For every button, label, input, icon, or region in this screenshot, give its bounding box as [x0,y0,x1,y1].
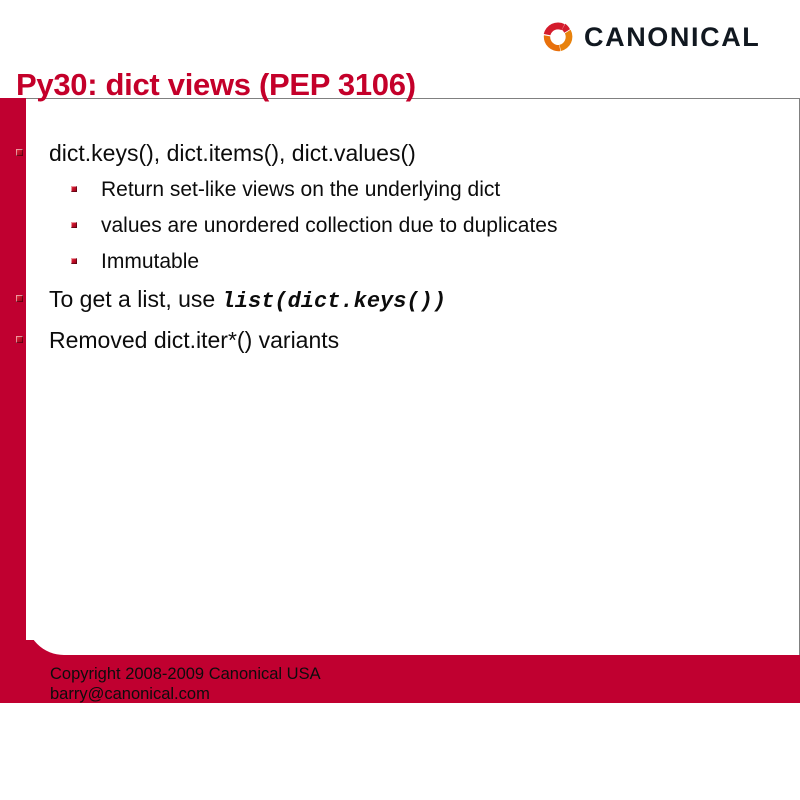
list-item: Immutable [16,247,756,277]
copyright-line: Copyright 2008-2009 Canonical USA [50,664,321,684]
bullet-square-icon [71,222,77,228]
list-item: Return set-like views on the underlying … [16,175,756,205]
page-title: Py30: dict views (PEP 3106) [16,67,416,103]
bullet-list: dict.keys(), dict.items(), dict.values()… [16,137,756,362]
canonical-circle-logo-icon [543,22,573,52]
contact-email: barry@canonical.com [50,684,321,704]
bullet-square-icon [16,336,23,343]
list-item-label: Immutable [101,247,199,277]
list-item: dict.keys(), dict.items(), dict.values() [16,137,756,169]
bullet-square-icon [16,295,23,302]
inline-code-snippet: list(dict.keys()) [222,289,446,314]
list-item-text: To get a list, use [49,286,222,312]
list-item-label: Removed dict.iter*() variants [49,324,339,356]
bullet-square-icon [71,186,77,192]
list-item: values are unordered collection due to d… [16,211,756,241]
canonical-logo: CANONICAL [543,22,760,52]
footer-credits: Copyright 2008-2009 Canonical USA barry@… [50,664,321,704]
list-item-label: To get a list, use list(dict.keys()) [49,283,446,318]
list-item: To get a list, use list(dict.keys()) [16,283,756,318]
bullet-square-icon [16,149,23,156]
slide-canvas: CANONICAL Py30: dict views (PEP 3106) di… [0,0,800,800]
list-item: Removed dict.iter*() variants [16,324,756,356]
canonical-wordmark: CANONICAL [584,24,760,51]
list-item-label: values are unordered collection due to d… [101,211,557,241]
list-item-label: Return set-like views on the underlying … [101,175,500,205]
bullet-square-icon [71,258,77,264]
list-item-label: dict.keys(), dict.items(), dict.values() [49,137,416,169]
